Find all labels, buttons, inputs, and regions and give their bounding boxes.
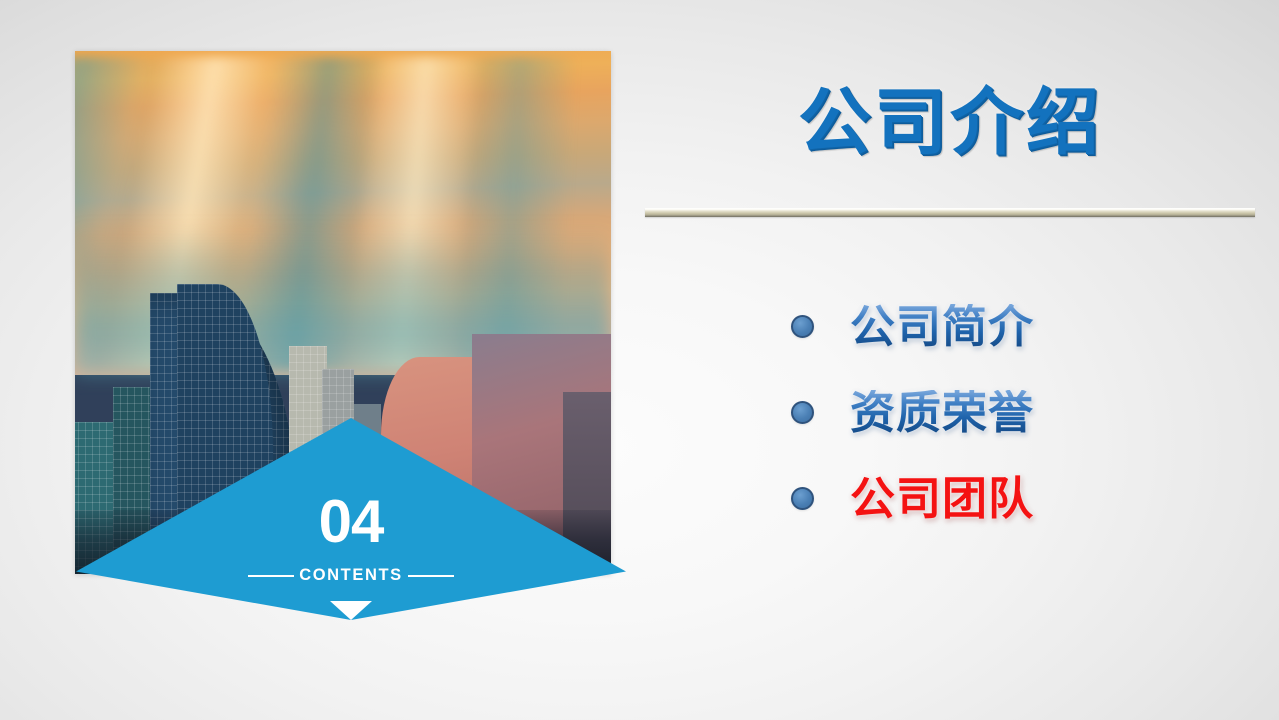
bullet-dot-icon [791,315,814,338]
bullet-dot-icon [791,401,814,424]
agenda-item-company-team[interactable]: 公司团队 [645,455,1255,541]
bullet-dot-icon [791,487,814,510]
presentation-slide: 04 CONTENTS 公司介绍 公司简介 资质荣誉 公司团队 [0,0,1279,720]
agenda-item-label: 公司团队 [850,476,1034,521]
title-divider [645,208,1255,217]
agenda-item-label: 资质荣誉 [850,390,1034,435]
page-title: 公司介绍 [645,85,1255,162]
agenda-item-company-profile[interactable]: 公司简介 [645,283,1255,369]
agenda-list: 公司简介 资质荣誉 公司团队 [645,283,1255,541]
agenda-item-label: 公司简介 [850,304,1034,349]
agenda-item-qualifications-honors[interactable]: 资质荣誉 [645,369,1255,455]
